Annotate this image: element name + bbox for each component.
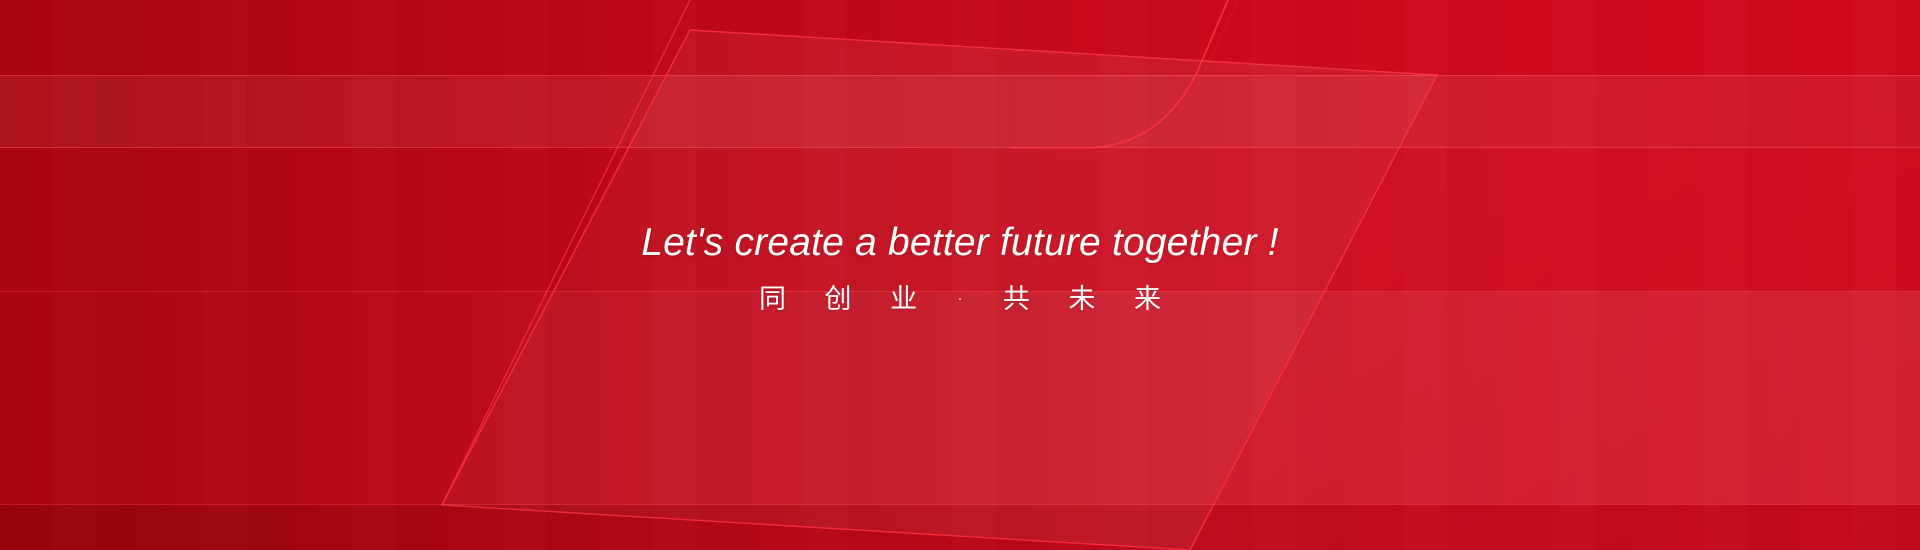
banner-headline: Let's create a better future together ! (0, 222, 1920, 265)
banner-text-block: Let's create a better future together ! … (0, 222, 1920, 316)
banner-subheadline: 同 创 业 · 共 未 来 (0, 284, 1920, 316)
promo-banner: Let's create a better future together ! … (0, 0, 1920, 550)
